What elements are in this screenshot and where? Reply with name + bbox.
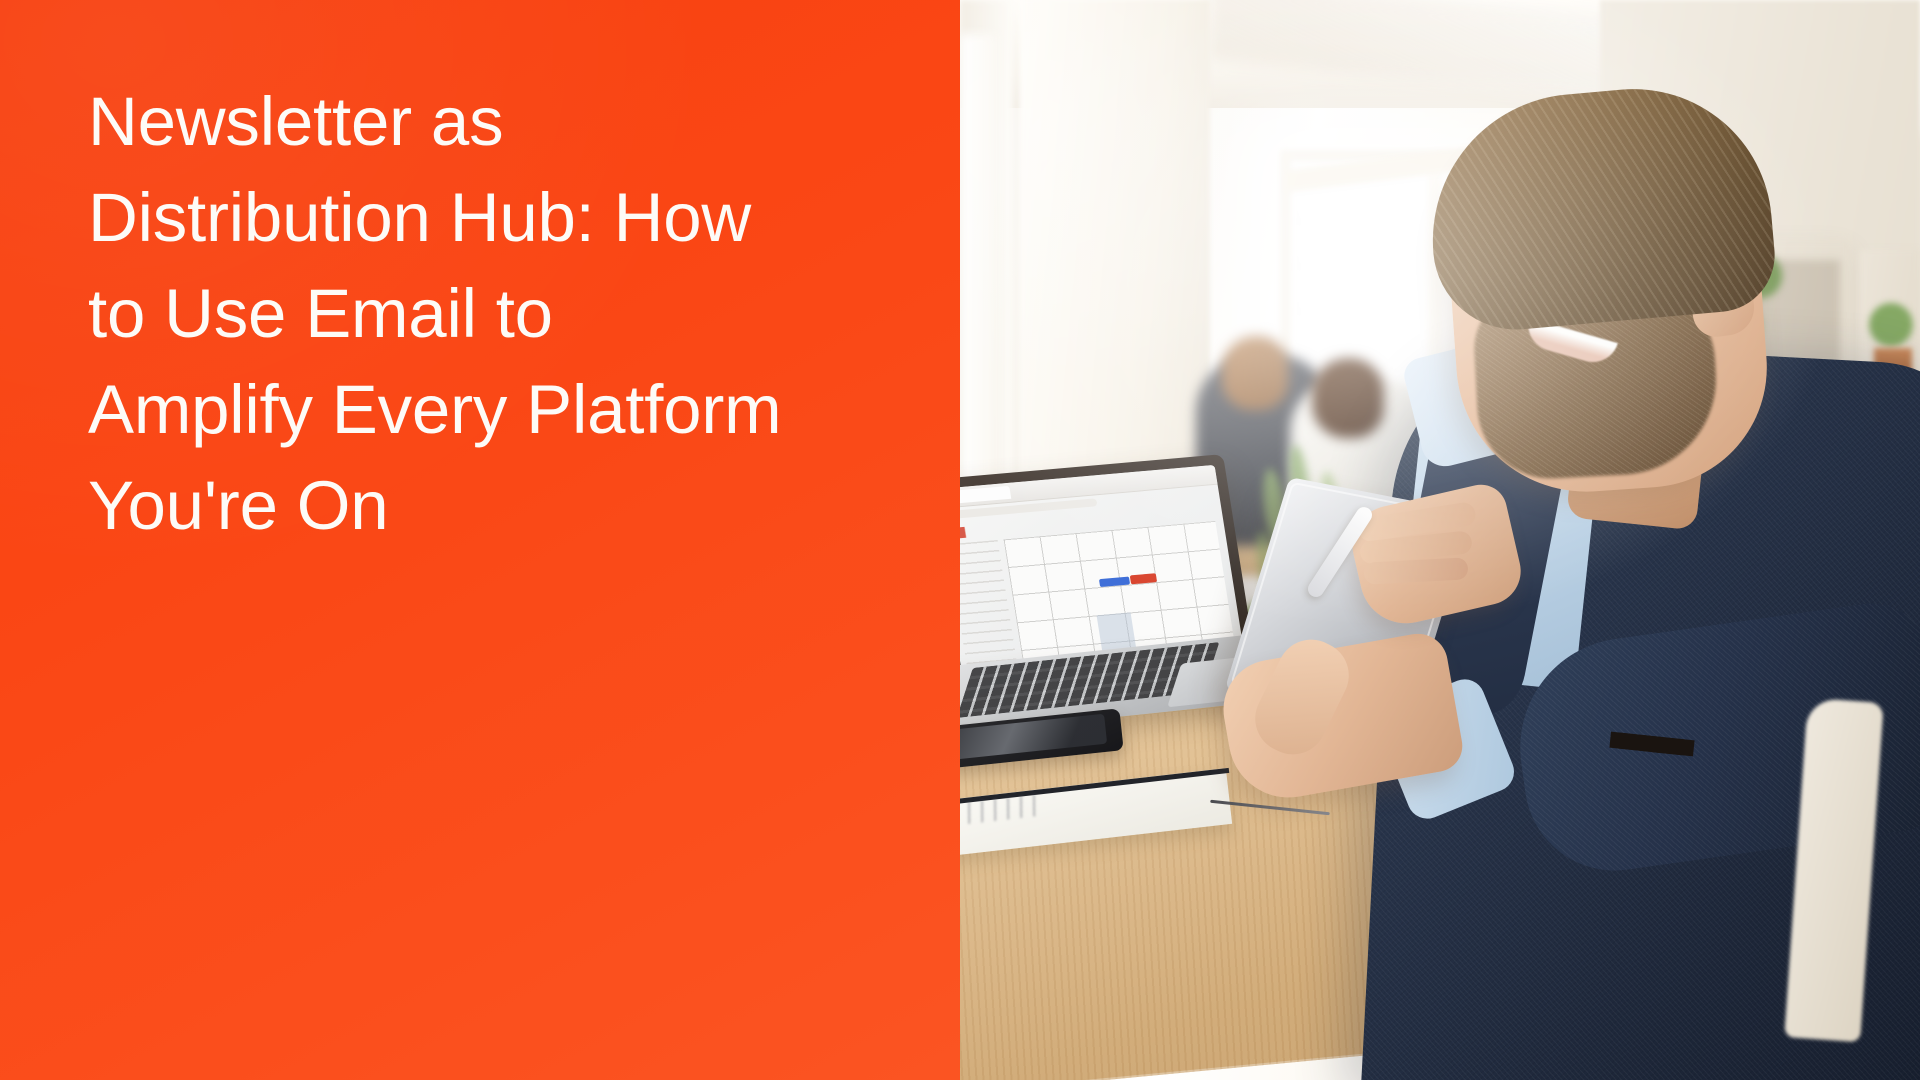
hero-photo [960,0,1920,1080]
title-block: Newsletter as Distribution Hub: How to U… [88,74,900,554]
blog-header-card: Newsletter as Distribution Hub: How to U… [0,0,1920,1080]
page-title: Newsletter as Distribution Hub: How to U… [88,74,900,554]
title-panel: Newsletter as Distribution Hub: How to U… [0,0,960,1080]
colleague-man-head [1222,336,1288,410]
